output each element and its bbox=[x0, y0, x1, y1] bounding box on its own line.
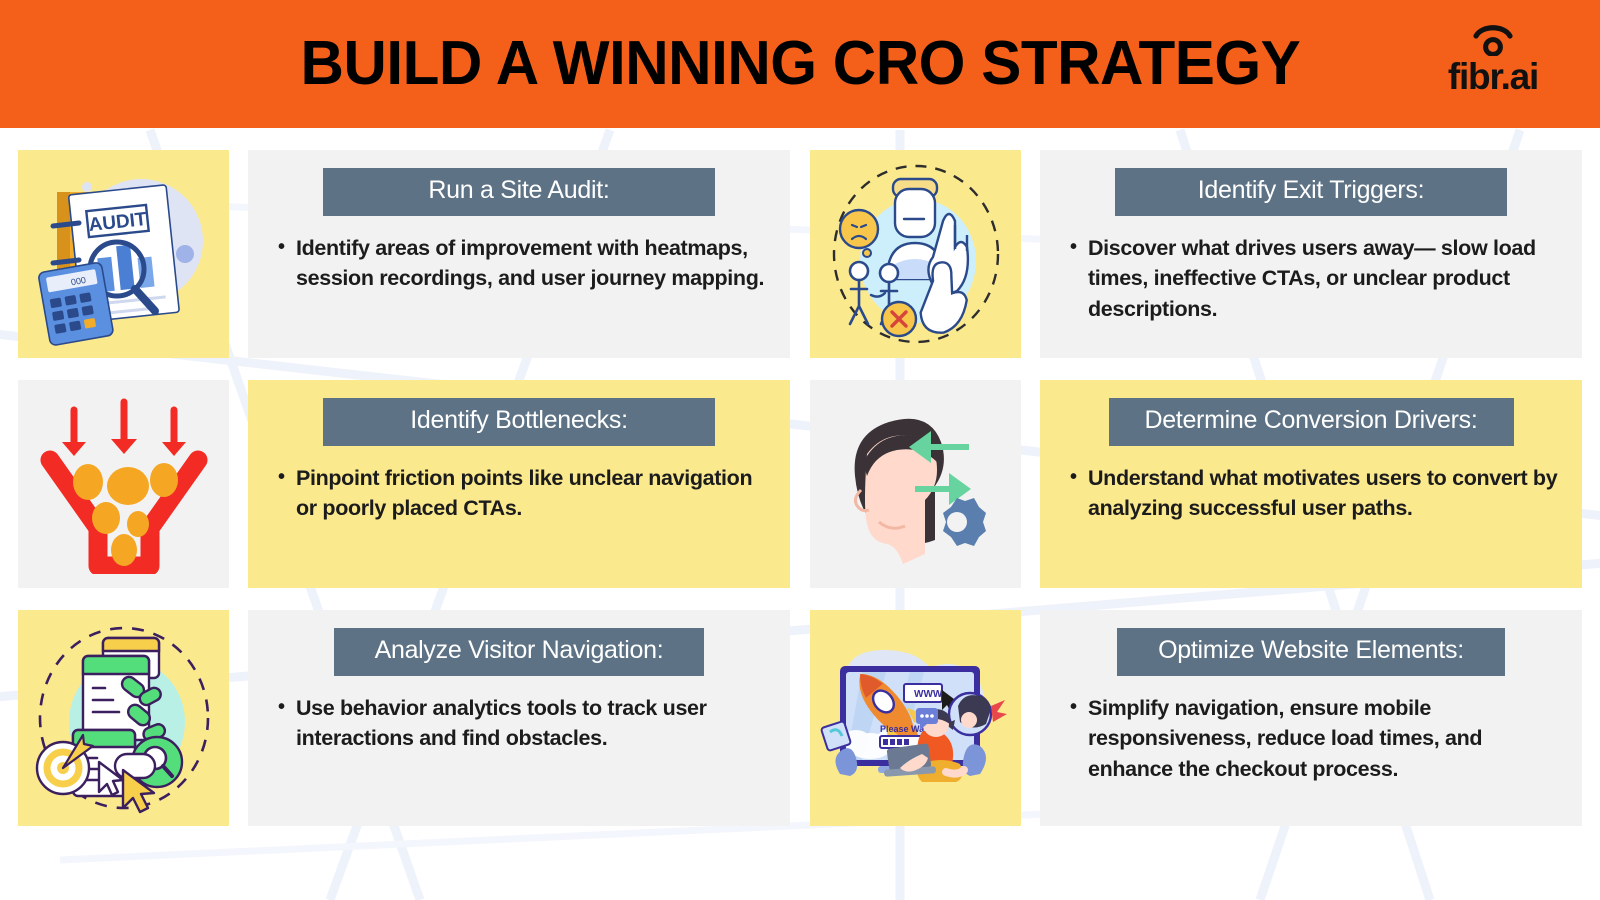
card-bullets: • Identify areas of improvement with hea… bbox=[268, 233, 770, 294]
card-identify-bottlenecks: Identify Bottlenecks: • Pinpoint frictio… bbox=[18, 380, 800, 588]
list-item: • Understand what motivates users to con… bbox=[1070, 463, 1562, 524]
card-row-2: Identify Bottlenecks: • Pinpoint frictio… bbox=[18, 380, 1582, 588]
card-bullets: • Pinpoint friction points like unclear … bbox=[268, 463, 770, 524]
head-gear-arrows-icon bbox=[823, 394, 1009, 574]
card-identify-exit-triggers: Identify Exit Triggers: • Discover what … bbox=[800, 150, 1582, 358]
bullet-dot-icon: • bbox=[1070, 463, 1088, 492]
audit-document-icon: AUDIT bbox=[29, 159, 219, 349]
exit-triggers-stop-hand-icon bbox=[823, 161, 1009, 347]
funnel-bottleneck-icon bbox=[36, 394, 212, 574]
card-analyze-visitor-navigation: Analyze Visitor Navigation: • Use behavi… bbox=[18, 610, 800, 826]
card-bullets: • Discover what drives users away— slow … bbox=[1060, 233, 1562, 325]
card-title: Identify Exit Triggers: bbox=[1115, 168, 1507, 216]
card-bullets: • Simplify navigation, ensure mobile res… bbox=[1060, 693, 1562, 785]
list-item: • Use behavior analytics tools to track … bbox=[278, 693, 770, 754]
list-item: • Identify areas of improvement with hea… bbox=[278, 233, 770, 294]
bullet-text: Use behavior analytics tools to track us… bbox=[296, 693, 770, 754]
icon-panel bbox=[810, 150, 1021, 358]
bullet-text: Understand what motivates users to conve… bbox=[1088, 463, 1562, 524]
content-card: Analyze Visitor Navigation: • Use behavi… bbox=[248, 610, 790, 826]
icon-panel bbox=[18, 610, 229, 826]
brand-logo[interactable]: fibr.ai bbox=[1428, 22, 1558, 108]
card-title: Identify Bottlenecks: bbox=[323, 398, 715, 446]
visitor-navigation-analytics-icon bbox=[29, 622, 219, 814]
card-title: Determine Conversion Drivers: bbox=[1109, 398, 1514, 446]
list-item: • Discover what drives users away— slow … bbox=[1070, 233, 1562, 325]
card-title: Optimize Website Elements: bbox=[1117, 628, 1505, 676]
rocket-website-launch-icon: WWW Please Wait bbox=[818, 628, 1014, 808]
card-row-1: AUDIT bbox=[18, 150, 1582, 358]
bullet-text: Identify areas of improvement with heatm… bbox=[296, 233, 770, 294]
bullet-dot-icon: • bbox=[278, 693, 296, 722]
icon-panel: WWW Please Wait bbox=[810, 610, 1021, 826]
card-title: Run a Site Audit: bbox=[323, 168, 715, 216]
card-bullets: • Use behavior analytics tools to track … bbox=[268, 693, 770, 754]
card-title: Analyze Visitor Navigation: bbox=[334, 628, 704, 676]
bullet-text: Pinpoint friction points like unclear na… bbox=[296, 463, 770, 524]
icon-panel bbox=[18, 380, 229, 588]
page-header: BUILD A WINNING CRO STRATEGY fibr.ai bbox=[0, 0, 1600, 128]
card-bullets: • Understand what motivates users to con… bbox=[1060, 463, 1562, 524]
content-card: Run a Site Audit: • Identify areas of im… bbox=[248, 150, 790, 358]
list-item: • Simplify navigation, ensure mobile res… bbox=[1070, 693, 1562, 785]
card-run-a-site-audit: AUDIT bbox=[18, 150, 800, 358]
content-card: Identify Exit Triggers: • Discover what … bbox=[1040, 150, 1582, 358]
card-row-3: Analyze Visitor Navigation: • Use behavi… bbox=[18, 610, 1582, 826]
card-determine-conversion-drivers: Determine Conversion Drivers: • Understa… bbox=[800, 380, 1582, 588]
bullet-dot-icon: • bbox=[1070, 693, 1088, 722]
content-card: Identify Bottlenecks: • Pinpoint frictio… bbox=[248, 380, 790, 588]
svg-text:WWW: WWW bbox=[914, 689, 943, 700]
bullet-text: Simplify navigation, ensure mobile respo… bbox=[1088, 693, 1562, 785]
bullet-dot-icon: • bbox=[278, 233, 296, 262]
wifi-dot-icon bbox=[1470, 22, 1516, 56]
bullet-text: Discover what drives users away— slow lo… bbox=[1088, 233, 1562, 325]
card-optimize-website-elements: WWW Please Wait bbox=[800, 610, 1582, 826]
bullet-dot-icon: • bbox=[1070, 233, 1088, 262]
infographic-page: BUILD A WINNING CRO STRATEGY fibr.ai bbox=[0, 0, 1600, 900]
icon-panel bbox=[810, 380, 1021, 588]
icon-panel: AUDIT bbox=[18, 150, 229, 358]
page-title: BUILD A WINNING CRO STRATEGY bbox=[300, 33, 1300, 95]
brand-logo-text: fibr.ai bbox=[1448, 58, 1538, 95]
bullet-dot-icon: • bbox=[278, 463, 296, 492]
content-card: Optimize Website Elements: • Simplify na… bbox=[1040, 610, 1582, 826]
card-grid: AUDIT bbox=[0, 128, 1600, 826]
content-card: Determine Conversion Drivers: • Understa… bbox=[1040, 380, 1582, 588]
list-item: • Pinpoint friction points like unclear … bbox=[278, 463, 770, 524]
